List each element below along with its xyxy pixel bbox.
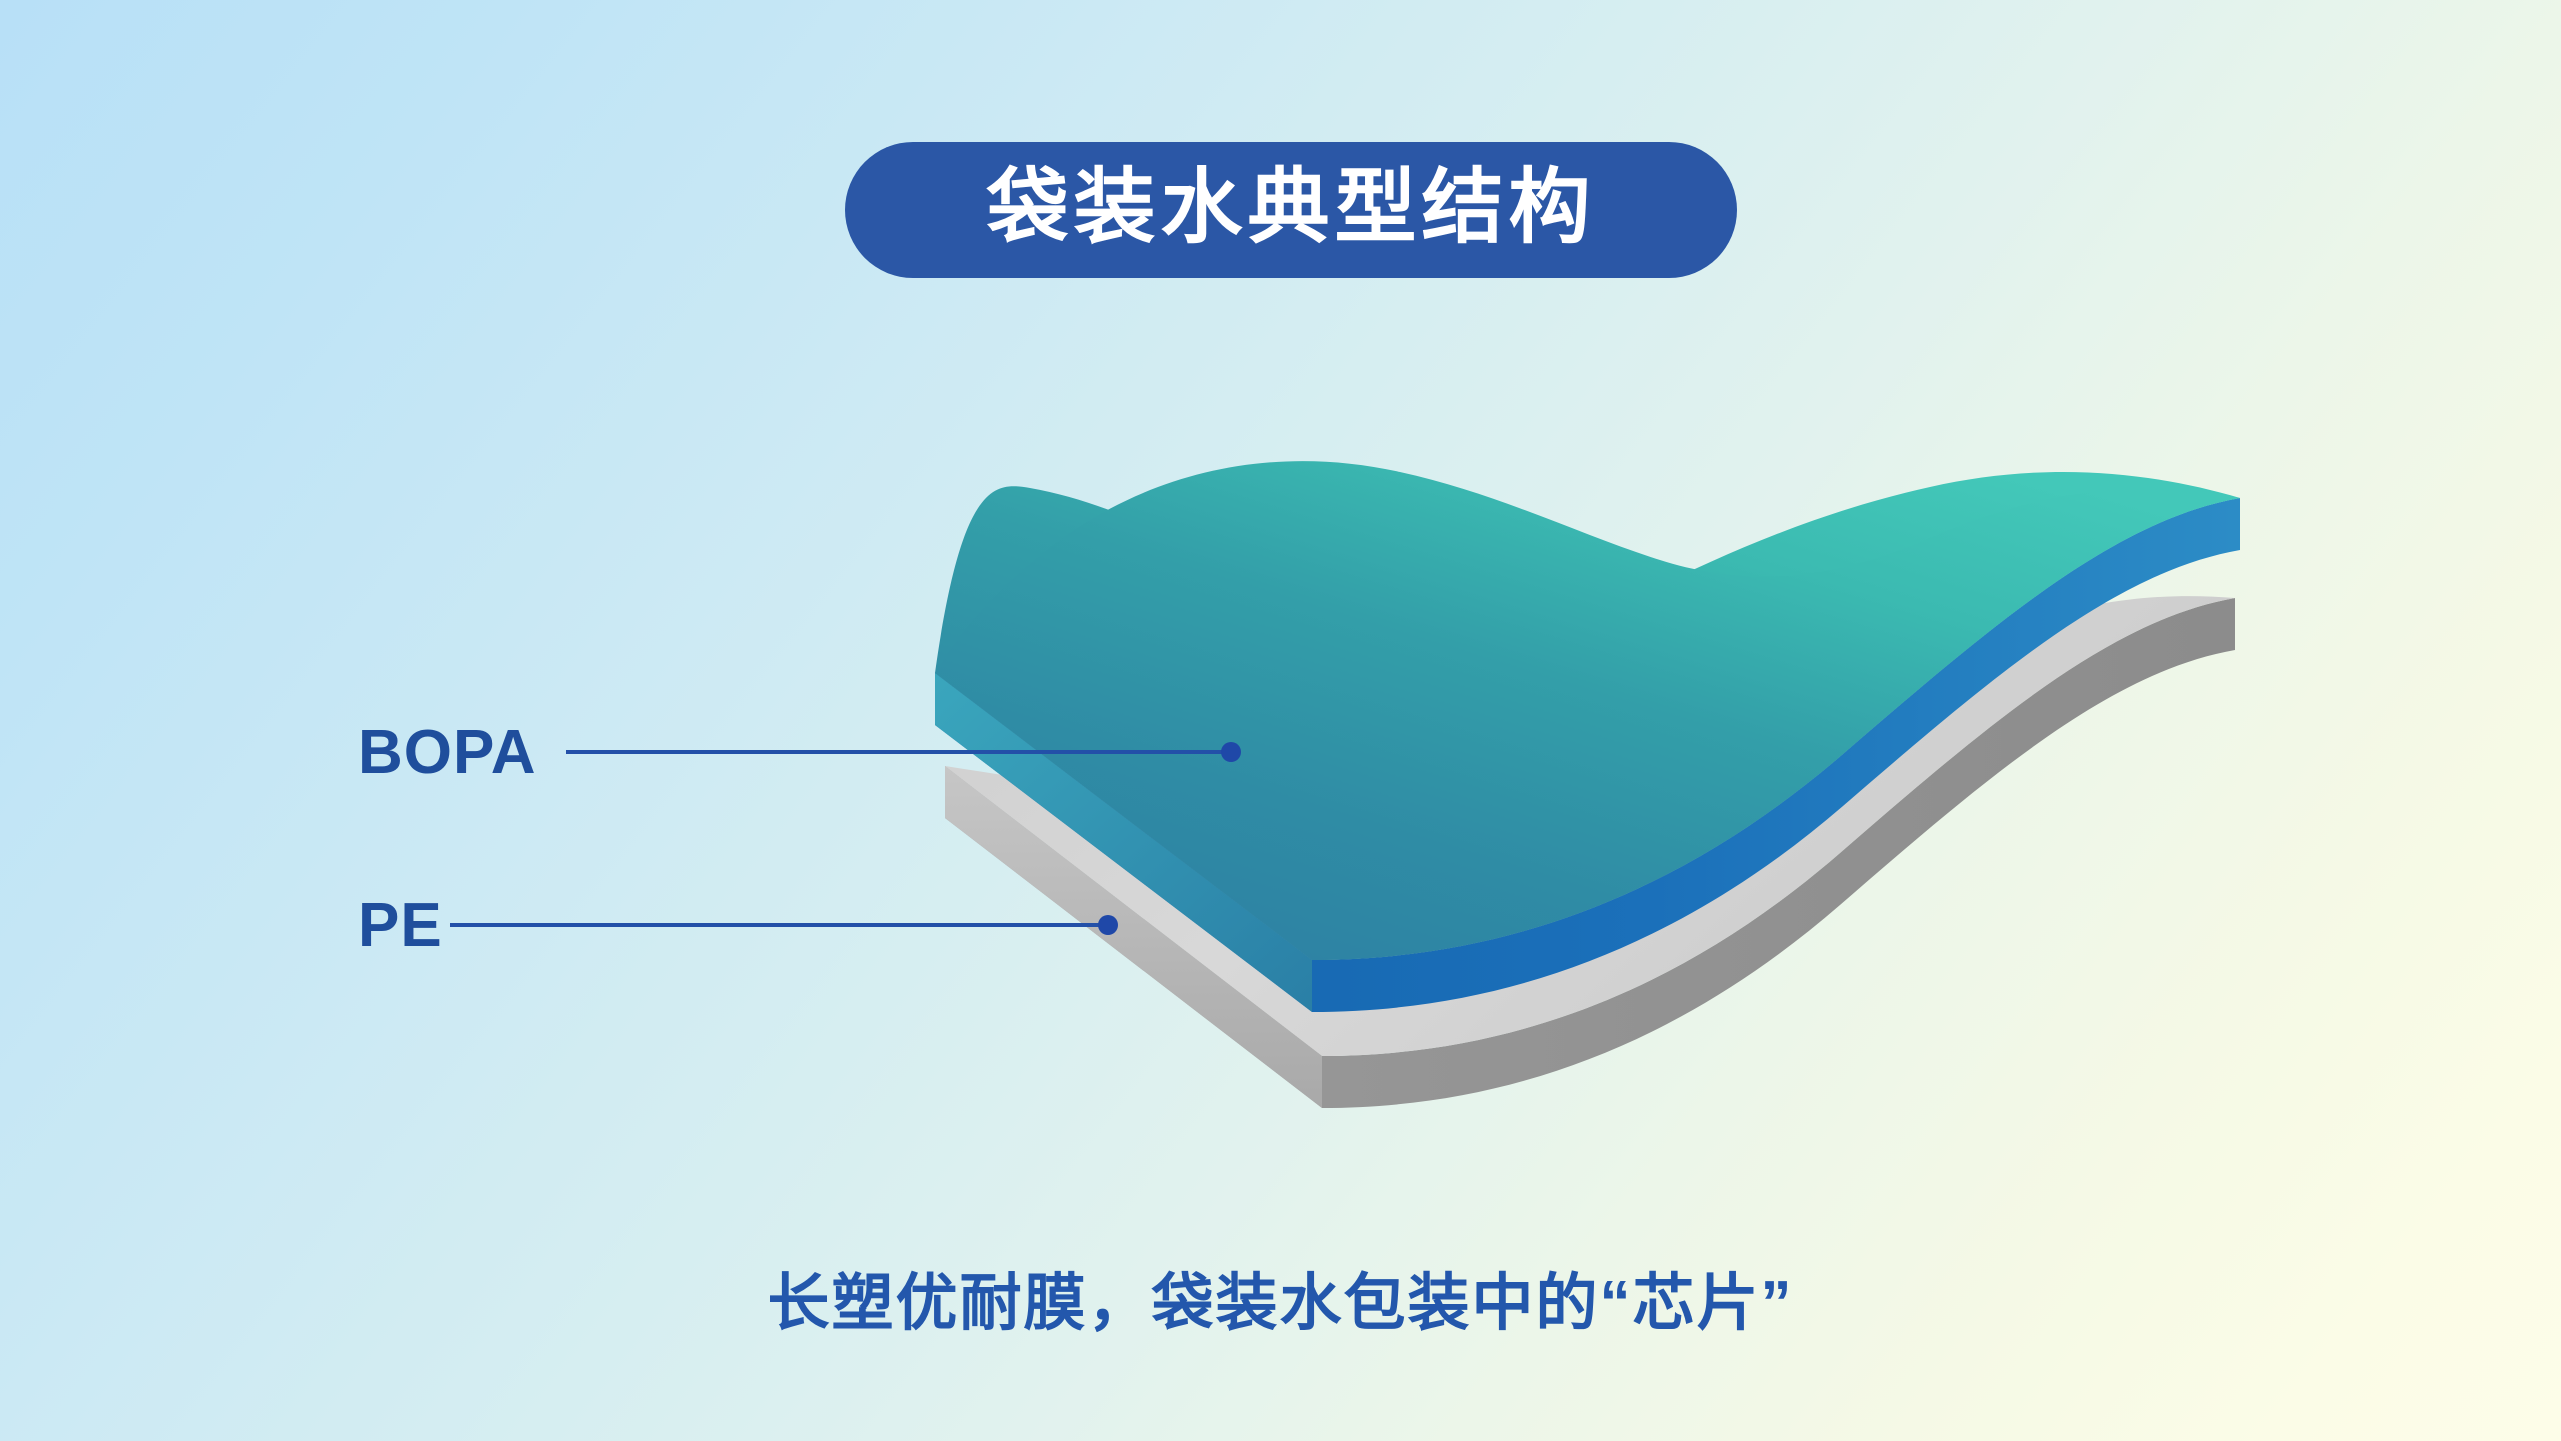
poster-canvas: 袋装水典型结构 BOPA PE 长塑优耐膜，袋装水包装中的“芯片”: [0, 0, 2561, 1441]
pe-leader-dot: [1098, 915, 1118, 935]
bopa-leader-dot: [1221, 742, 1241, 762]
title-pill: 袋装水典型结构: [845, 142, 1737, 278]
page-title: 袋装水典型结构: [986, 167, 1595, 249]
layer-label-bopa: BOPA: [358, 722, 537, 784]
layer-label-pe: PE: [358, 895, 443, 957]
caption-text: 长塑优耐膜，袋装水包装中的“芯片”: [0, 1252, 2561, 1342]
